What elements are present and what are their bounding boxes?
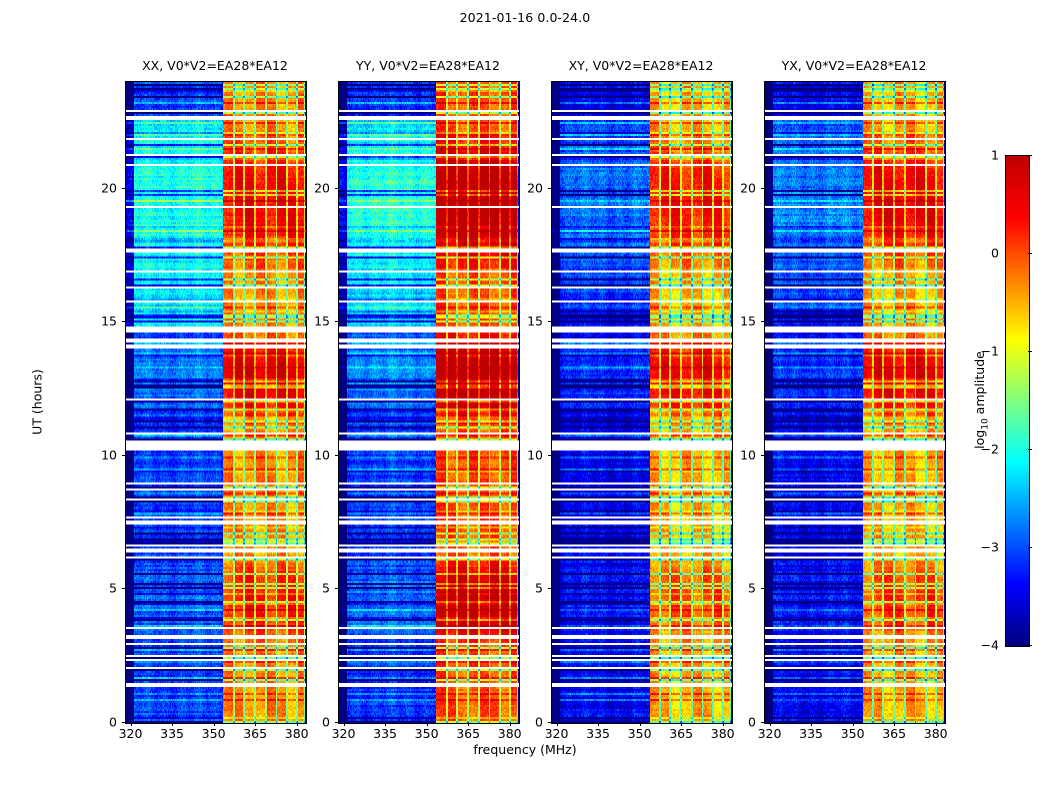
- y-tick-mark: [761, 321, 765, 322]
- x-tick-mark: [131, 722, 132, 726]
- waterfall-image-xx: [126, 82, 306, 723]
- y-tick-mark: [761, 188, 765, 189]
- colorbar-label: log10 amplitude: [972, 351, 991, 449]
- y-tick-mark: [335, 722, 339, 723]
- y-tick-label: 5: [501, 581, 543, 596]
- y-tick-mark: [548, 455, 552, 456]
- y-tick-mark: [548, 588, 552, 589]
- x-tick-mark: [557, 722, 558, 726]
- y-tick-label: 5: [714, 581, 756, 596]
- waterfall-image-yx: [765, 82, 945, 723]
- x-tick-mark: [853, 722, 854, 726]
- x-tick-mark: [894, 722, 895, 726]
- x-tick-mark: [468, 722, 469, 726]
- x-tick-mark: [936, 722, 937, 726]
- y-tick-label: 0: [288, 715, 330, 730]
- y-tick-label: 10: [288, 447, 330, 462]
- x-tick-mark: [770, 722, 771, 726]
- y-tick-label: 20: [501, 180, 543, 195]
- colorbar-tick-mark: [1028, 645, 1032, 646]
- colorbar-tick-mark: [1028, 351, 1032, 352]
- y-tick-label: 20: [714, 180, 756, 195]
- x-tick-mark: [681, 722, 682, 726]
- waterfall-panel-yy[interactable]: [338, 81, 520, 724]
- y-tick-mark: [122, 321, 126, 322]
- x-tick-mark: [640, 722, 641, 726]
- colorbar-tick-label: 1: [955, 148, 999, 163]
- waterfall-panel-yx[interactable]: [764, 81, 946, 724]
- x-tick-mark: [255, 722, 256, 726]
- waterfall-panel-xx[interactable]: [125, 81, 307, 724]
- x-tick-mark: [427, 722, 428, 726]
- y-tick-label: 15: [75, 314, 117, 329]
- colorbar-tick-mark: [1028, 547, 1032, 548]
- y-tick-mark: [122, 588, 126, 589]
- y-tick-label: 0: [714, 715, 756, 730]
- x-tick-mark: [811, 722, 812, 726]
- waterfall-image-xy: [552, 82, 732, 723]
- colorbar-tick-mark: [1028, 155, 1032, 156]
- x-tick-mark: [214, 722, 215, 726]
- y-tick-label: 10: [714, 447, 756, 462]
- y-tick-mark: [122, 188, 126, 189]
- y-tick-mark: [335, 455, 339, 456]
- panel-title-yx: YX, V0*V2=EA28*EA12: [764, 58, 944, 73]
- y-tick-label: 15: [714, 314, 756, 329]
- x-tick-mark: [385, 722, 386, 726]
- y-tick-mark: [761, 455, 765, 456]
- panel-title-xy: XY, V0*V2=EA28*EA12: [551, 58, 731, 73]
- y-tick-mark: [122, 722, 126, 723]
- colorbar-tick-label: −3: [955, 540, 999, 555]
- y-tick-mark: [335, 188, 339, 189]
- waterfall-panel-xy[interactable]: [551, 81, 733, 724]
- x-tick-label: 380: [906, 726, 966, 741]
- y-tick-mark: [122, 455, 126, 456]
- y-tick-label: 0: [501, 715, 543, 730]
- y-tick-mark: [335, 588, 339, 589]
- y-tick-mark: [761, 722, 765, 723]
- colorbar-tick-mark: [1028, 449, 1032, 450]
- figure-canvas: 2021-01-16 0.0-24.0 UT (hours) frequency…: [0, 0, 1050, 800]
- colorbar-tick-label: −4: [955, 638, 999, 653]
- x-tick-mark: [598, 722, 599, 726]
- panel-title-yy: YY, V0*V2=EA28*EA12: [338, 58, 518, 73]
- y-tick-mark: [548, 321, 552, 322]
- panel-title-xx: XX, V0*V2=EA28*EA12: [125, 58, 305, 73]
- y-tick-mark: [548, 188, 552, 189]
- figure-suptitle: 2021-01-16 0.0-24.0: [0, 10, 1050, 25]
- y-tick-label: 20: [75, 180, 117, 195]
- y-tick-label: 0: [75, 715, 117, 730]
- y-tick-mark: [548, 722, 552, 723]
- y-tick-mark: [761, 588, 765, 589]
- x-axis-label: frequency (MHz): [0, 742, 1050, 757]
- y-tick-label: 15: [288, 314, 330, 329]
- colorbar-tick-mark: [1028, 253, 1032, 254]
- colorbar-gradient: [1006, 156, 1029, 646]
- x-tick-mark: [172, 722, 173, 726]
- y-axis-label: UT (hours): [30, 369, 45, 435]
- y-tick-mark: [335, 321, 339, 322]
- y-tick-label: 10: [75, 447, 117, 462]
- colorbar[interactable]: [1005, 155, 1030, 647]
- waterfall-image-yy: [339, 82, 519, 723]
- colorbar-tick-label: 0: [955, 246, 999, 261]
- y-tick-label: 15: [501, 314, 543, 329]
- x-tick-mark: [344, 722, 345, 726]
- y-tick-label: 20: [288, 180, 330, 195]
- y-tick-label: 10: [501, 447, 543, 462]
- y-tick-label: 5: [288, 581, 330, 596]
- y-tick-label: 5: [75, 581, 117, 596]
